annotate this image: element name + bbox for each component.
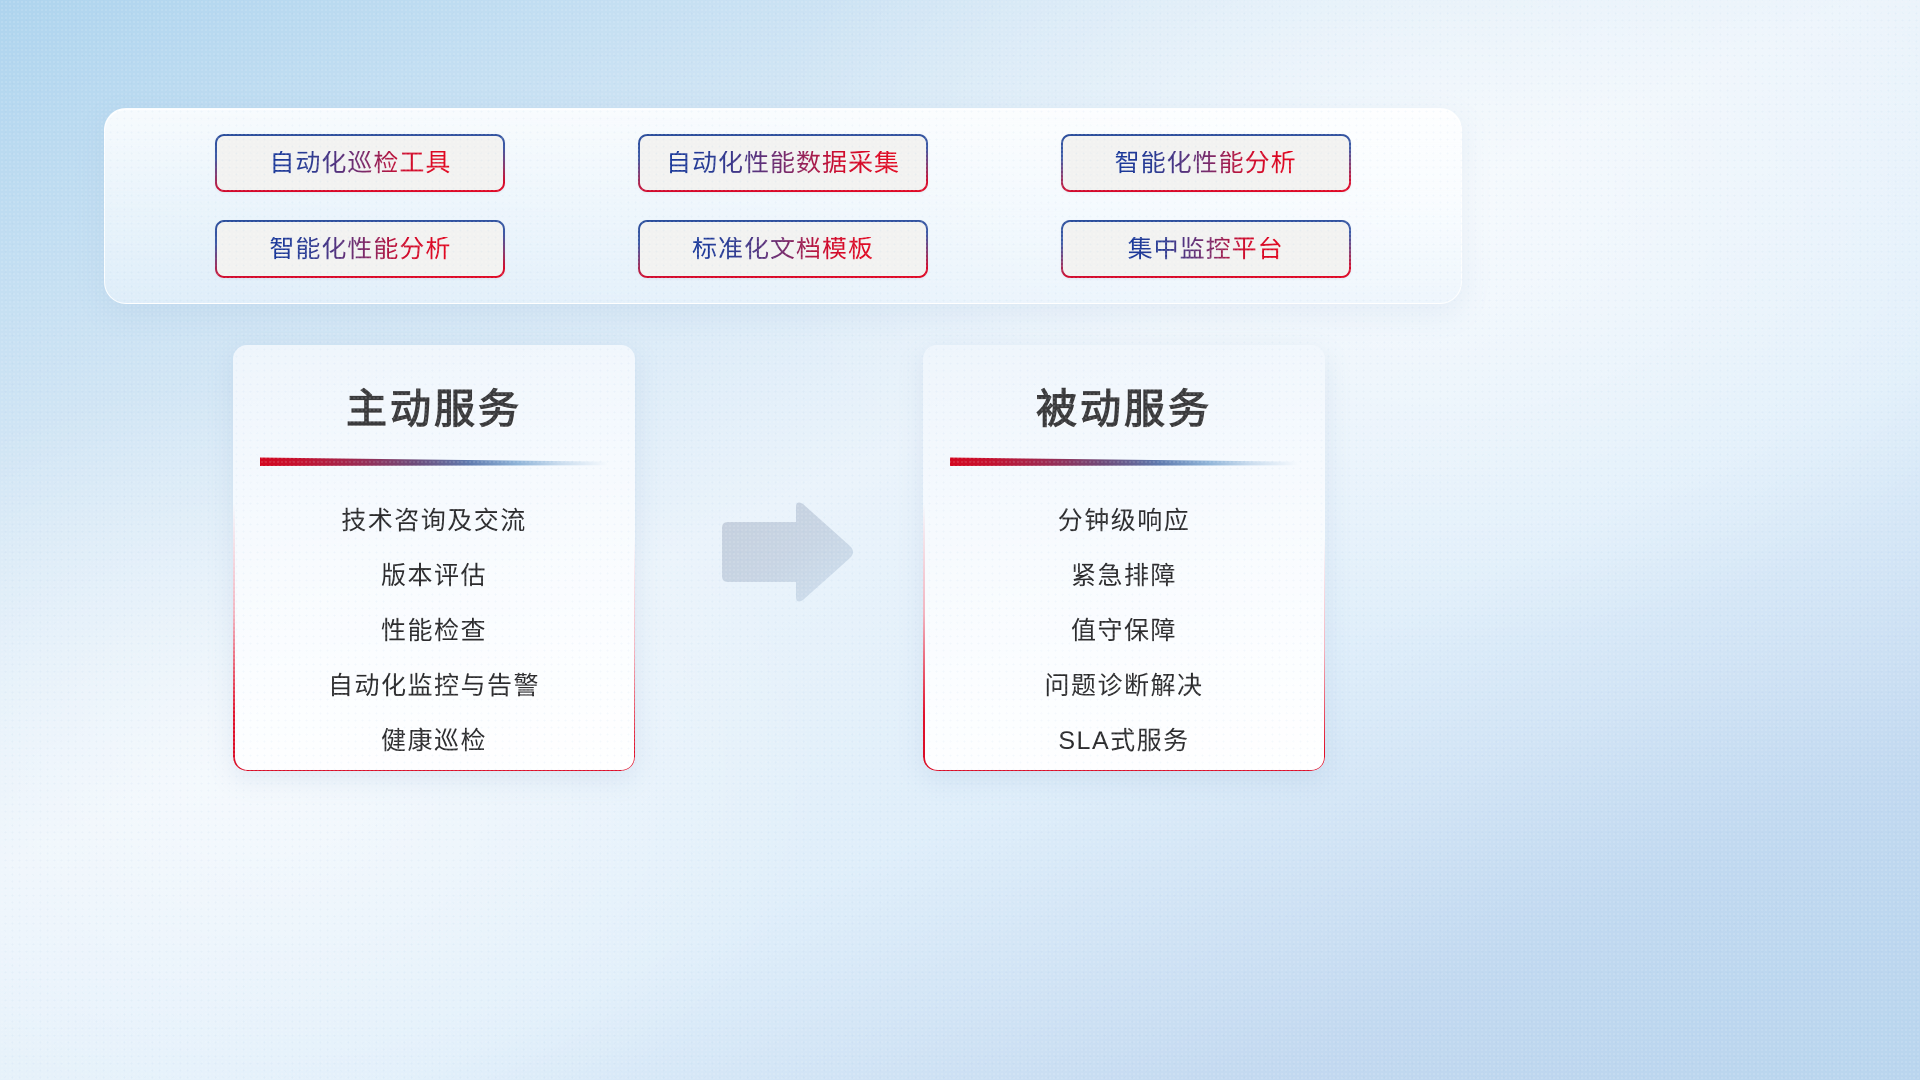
card-item-list: 分钟级响应 紧急排障 值守保障 问题诊断解决 SLA式服务 [923, 494, 1325, 769]
card-item-list: 技术咨询及交流 版本评估 性能检查 自动化监控与告警 健康巡检 [233, 494, 635, 769]
capability-tag-label: 自动化性能数据采集 [666, 151, 900, 176]
slide-canvas: 自动化巡检工具 自动化性能数据采集 智能化性能分析 智能化性能分析 标准化文档模… [0, 0, 1920, 1080]
list-item: 版本评估 [381, 549, 487, 604]
capability-tag-label: 自动化巡检工具 [269, 151, 451, 176]
list-item: 技术咨询及交流 [341, 494, 527, 549]
list-item: 自动化监控与告警 [328, 659, 540, 714]
capability-tag-label: 标准化文档模板 [692, 237, 874, 262]
list-item: 紧急排障 [1071, 549, 1177, 604]
list-item: 问题诊断解决 [1044, 659, 1203, 714]
card-title: 被动服务 [923, 375, 1325, 435]
capability-tag-6[interactable]: 集中监控平台 [1061, 220, 1351, 278]
list-item: 值守保障 [1071, 604, 1177, 659]
capability-tag-grid: 自动化巡检工具 自动化性能数据采集 智能化性能分析 智能化性能分析 标准化文档模… [105, 109, 1461, 303]
capability-tag-5[interactable]: 标准化文档模板 [638, 220, 928, 278]
card-title: 主动服务 [233, 375, 635, 435]
list-item: 性能检查 [381, 604, 487, 659]
service-card-active[interactable]: 主动服务 技术咨询及交流 版本评估 性能检查 自动化监控与告警 健康巡检 [233, 345, 635, 771]
arrow-right-icon [712, 500, 856, 605]
capability-tag-3[interactable]: 智能化性能分析 [1061, 134, 1351, 192]
capability-tag-4[interactable]: 智能化性能分析 [215, 220, 505, 278]
card-divider [950, 457, 1298, 466]
capability-panel: 自动化巡检工具 自动化性能数据采集 智能化性能分析 智能化性能分析 标准化文档模… [104, 108, 1462, 304]
list-item: SLA式服务 [1058, 714, 1189, 769]
list-item: 健康巡检 [381, 714, 487, 769]
service-card-passive[interactable]: 被动服务 分钟级响应 紧急排障 值守保障 问题诊断解决 SLA式服务 [923, 345, 1325, 771]
list-item: 分钟级响应 [1058, 494, 1191, 549]
capability-tag-label: 智能化性能分析 [269, 237, 451, 262]
capability-tag-2[interactable]: 自动化性能数据采集 [638, 134, 928, 192]
card-divider [260, 457, 608, 466]
capability-tag-label: 集中监控平台 [1128, 237, 1284, 262]
capability-tag-label: 智能化性能分析 [1115, 151, 1297, 176]
capability-tag-1[interactable]: 自动化巡检工具 [215, 134, 505, 192]
